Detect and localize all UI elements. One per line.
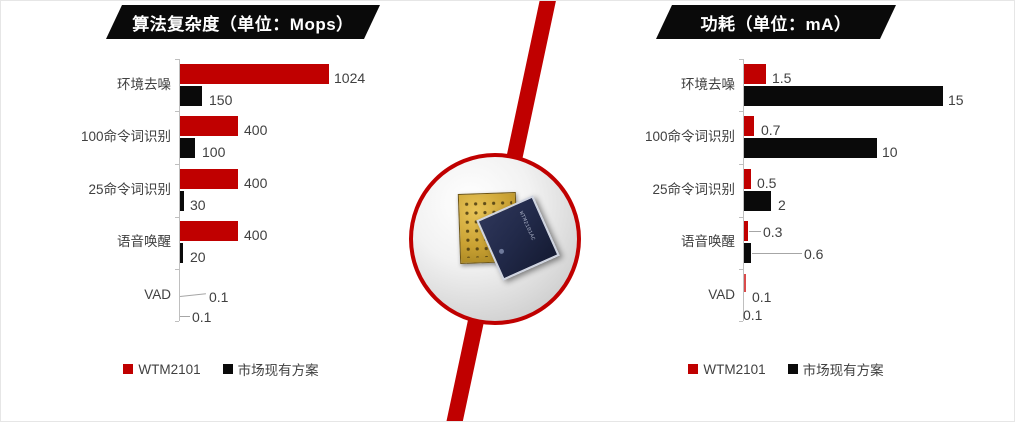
panel-algorithm-complexity: 算法复杂度（单位：Mops） 环境去噪 100命令词识别 25命令词识别 语音唤… bbox=[11, 1, 431, 422]
chip-pin1-dot bbox=[498, 248, 505, 255]
axis-tick bbox=[175, 59, 179, 60]
bar-value-red: 400 bbox=[244, 123, 267, 137]
bar-value-red: 400 bbox=[244, 176, 267, 190]
bar-value-black: 20 bbox=[190, 250, 206, 264]
bar-red bbox=[180, 221, 238, 241]
leader-line-red bbox=[749, 231, 761, 232]
axis-tick bbox=[175, 217, 179, 218]
axis-tick bbox=[175, 111, 179, 112]
axis-tick bbox=[175, 321, 179, 322]
leader-line-red bbox=[180, 293, 206, 297]
panel-title-right: 功耗（单位：mA） bbox=[701, 10, 852, 35]
category-label: 100命令词识别 bbox=[576, 130, 735, 144]
chart-power-consumption: 环境去噪 100命令词识别 25命令词识别 语音唤醒 VAD 1.5 15 0.… bbox=[576, 59, 996, 329]
legend-swatch-red-icon bbox=[688, 364, 698, 374]
category-label: 语音唤醒 bbox=[11, 235, 171, 249]
bar-black bbox=[744, 191, 771, 211]
legend-item-market: 市场现有方案 bbox=[788, 359, 884, 379]
bar-value-black: 10 bbox=[882, 145, 898, 159]
bar-value-black: 0.1 bbox=[192, 310, 211, 324]
bar-red bbox=[744, 221, 748, 241]
legend-label: 市场现有方案 bbox=[803, 359, 884, 379]
legend-swatch-black-icon bbox=[788, 364, 798, 374]
bar-red bbox=[180, 64, 329, 84]
category-label: 语音唤醒 bbox=[576, 235, 735, 249]
bar-black bbox=[180, 138, 195, 158]
category-label: 100命令词识别 bbox=[11, 130, 171, 144]
bar-value-red: 0.3 bbox=[763, 225, 782, 239]
category-label: VAD bbox=[576, 288, 735, 302]
bar-value-red: 1024 bbox=[334, 71, 365, 85]
bar-value-black: 15 bbox=[948, 93, 964, 107]
category-label: VAD bbox=[11, 288, 171, 302]
bar-value-red: 0.1 bbox=[209, 290, 228, 304]
bar-value-red: 1.5 bbox=[772, 71, 791, 85]
title-banner-right: 功耗（单位：mA） bbox=[656, 5, 896, 39]
legend-left: WTM2101 市场现有方案 bbox=[11, 359, 431, 379]
axis-tick bbox=[739, 164, 743, 165]
legend-item-market: 市场现有方案 bbox=[223, 359, 319, 379]
bar-value-red: 400 bbox=[244, 228, 267, 242]
bar-value-black: 2 bbox=[778, 198, 786, 212]
category-label: 25命令词识别 bbox=[576, 183, 735, 197]
bar-black bbox=[744, 86, 943, 106]
chart-algorithm-complexity: 环境去噪 100命令词识别 25命令词识别 语音唤醒 VAD 1024 150 … bbox=[11, 59, 431, 329]
leader-line-black bbox=[180, 316, 190, 317]
bar-value-red: 0.1 bbox=[752, 290, 771, 304]
leader-line-black bbox=[752, 253, 802, 254]
axis-tick bbox=[175, 269, 179, 270]
category-label: 环境去噪 bbox=[11, 78, 171, 92]
bar-value-black: 30 bbox=[190, 198, 206, 212]
panel-title-left: 算法复杂度（单位：Mops） bbox=[132, 10, 353, 35]
bar-value-black: 0.6 bbox=[804, 247, 823, 261]
bar-value-red: 0.7 bbox=[761, 123, 780, 137]
bar-black bbox=[744, 243, 751, 263]
bar-red bbox=[744, 169, 751, 189]
title-banner-left: 算法复杂度（单位：Mops） bbox=[106, 5, 380, 39]
axis-tick bbox=[739, 111, 743, 112]
legend-item-wtm2101: WTM2101 bbox=[688, 359, 765, 379]
axis-tick bbox=[175, 164, 179, 165]
chip-photo: WTM2101AC bbox=[413, 157, 577, 321]
slide-canvas: WTM2101AC 算法复杂度（单位：Mops） 环境去噪 100命令词识别 2… bbox=[0, 0, 1015, 422]
bar-value-black: 0.1 bbox=[743, 308, 762, 322]
legend-label: 市场现有方案 bbox=[238, 359, 319, 379]
legend-right: WTM2101 市场现有方案 bbox=[576, 359, 996, 379]
bar-value-red: 0.5 bbox=[757, 176, 776, 190]
category-label: 25命令词识别 bbox=[11, 183, 171, 197]
category-label: 环境去噪 bbox=[576, 78, 735, 92]
legend-item-wtm2101: WTM2101 bbox=[123, 359, 200, 379]
axis-tick bbox=[739, 217, 743, 218]
bar-black bbox=[180, 191, 184, 211]
bar-red bbox=[180, 116, 238, 136]
bar-red bbox=[744, 116, 754, 136]
legend-swatch-red-icon bbox=[123, 364, 133, 374]
bar-value-black: 100 bbox=[202, 145, 225, 159]
legend-label: WTM2101 bbox=[138, 362, 200, 377]
bar-red bbox=[744, 64, 766, 84]
bar-black bbox=[744, 138, 877, 158]
legend-label: WTM2101 bbox=[703, 362, 765, 377]
axis-tick bbox=[739, 59, 743, 60]
bar-value-black: 150 bbox=[209, 93, 232, 107]
chip-photo-circle: WTM2101AC bbox=[409, 153, 581, 325]
axis-tick bbox=[739, 269, 743, 270]
bar-black bbox=[180, 243, 183, 263]
bar-black bbox=[180, 86, 202, 106]
bar-red bbox=[744, 274, 746, 292]
chip-marking-line1: WTM2101AC bbox=[518, 210, 544, 257]
legend-swatch-black-icon bbox=[223, 364, 233, 374]
bar-red bbox=[180, 169, 238, 189]
panel-power-consumption: 功耗（单位：mA） 环境去噪 100命令词识别 25命令词识别 语音唤醒 VAD… bbox=[576, 1, 996, 422]
